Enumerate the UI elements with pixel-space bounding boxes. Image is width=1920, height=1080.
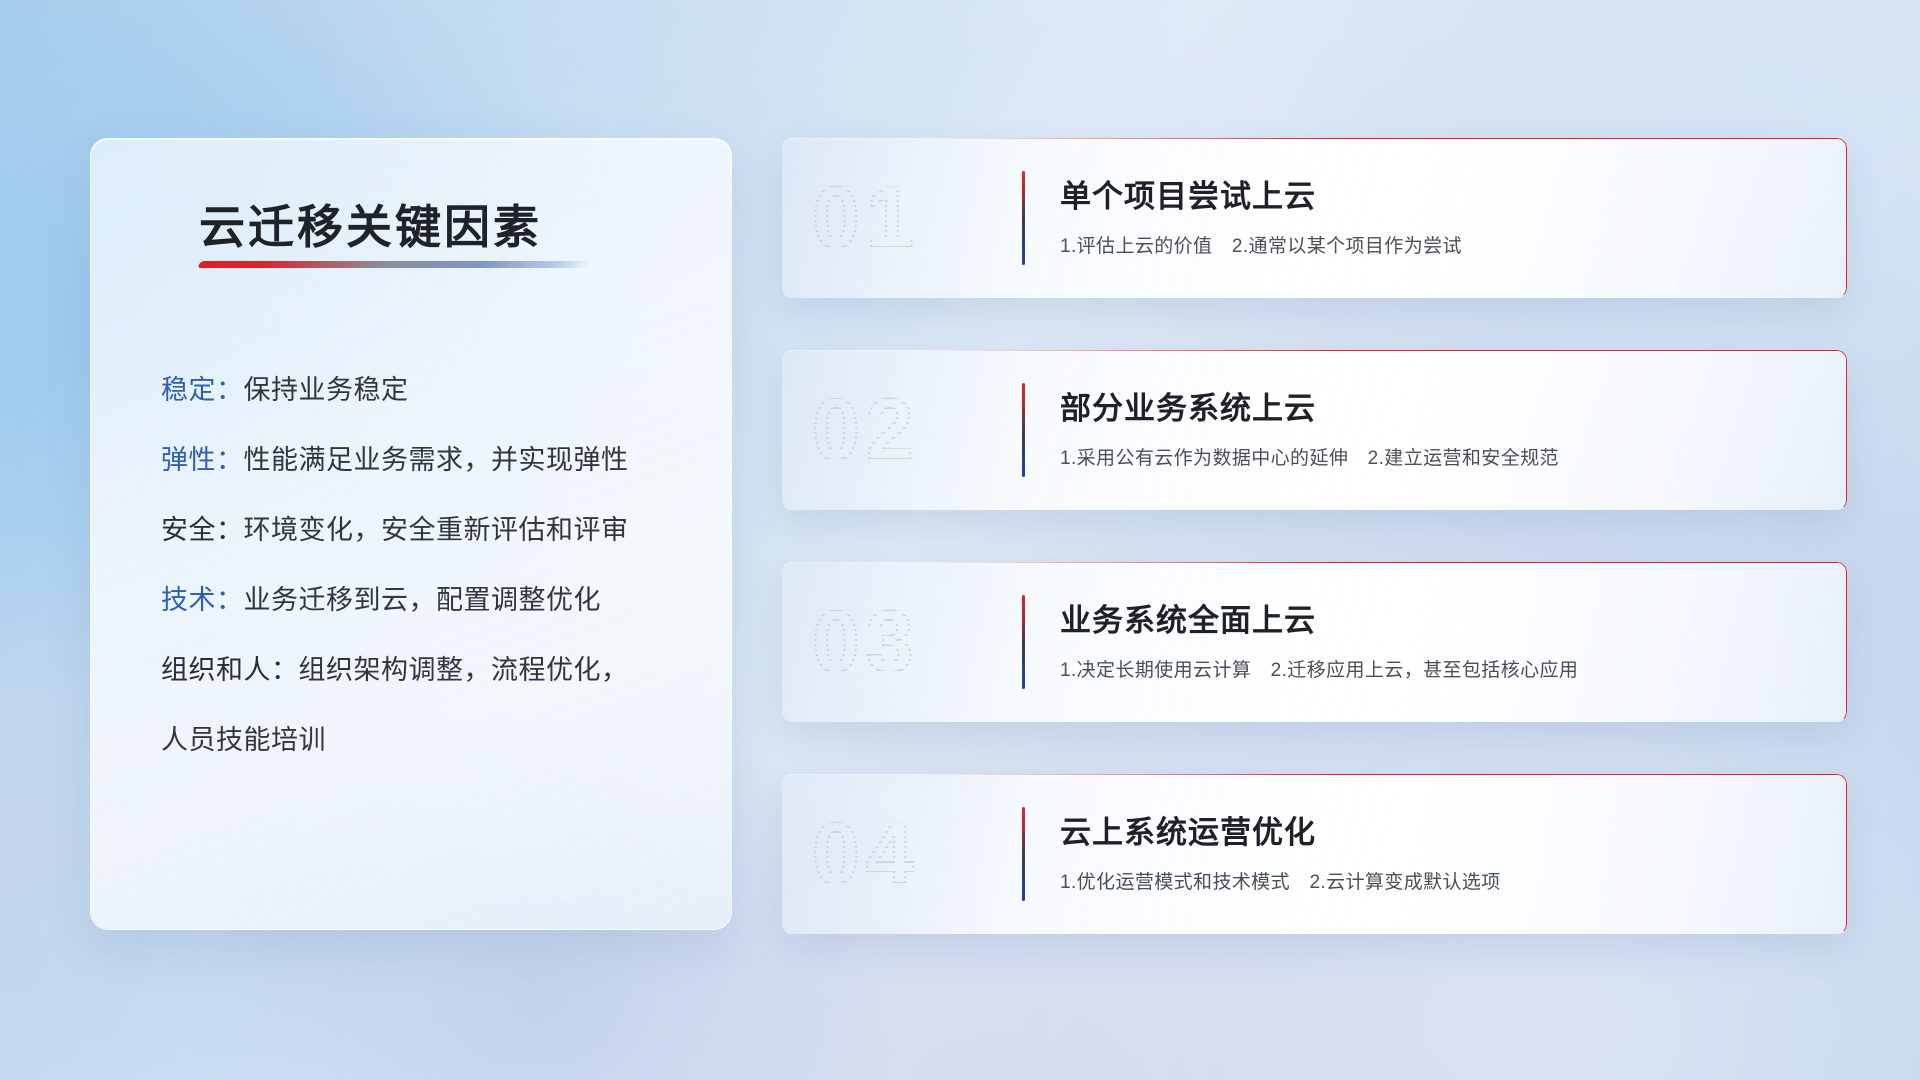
step-title: 单个项目尝试上云 [1060,178,1807,217]
step-divider-bar [1022,807,1025,901]
list-item: 组织和人：组织架构调整，流程优化， [161,657,691,684]
step-body: 云上系统运营优化 1.优化运营模式和技术模式 2.云计算变成默认选项 [1060,814,1807,894]
title-underline-accent [197,261,591,268]
step-number: 01 [812,175,920,261]
step-description: 1.采用公有云作为数据中心的延伸 2.建立运营和安全规范 [1060,443,1807,470]
key-factors-panel: 云迁移关键因素 稳定：保持业务稳定 弹性：性能满足业务需求，并实现弹性 安全：环… [90,138,732,930]
list-item: 人员技能培训 [161,727,691,754]
factor-text: 保持业务稳定 [244,375,409,405]
step-divider-bar [1022,171,1025,265]
step-description: 1.决定长期使用云计算 2.迁移应用上云，甚至包括核心应用 [1060,655,1807,682]
factor-list: 稳定：保持业务稳定 弹性：性能满足业务需求，并实现弹性 安全：环境变化，安全重新… [161,377,691,754]
list-item: 弹性：性能满足业务需求，并实现弹性 [161,447,691,474]
step-title: 部分业务系统上云 [1060,390,1807,429]
step-title: 云上系统运营优化 [1060,814,1807,853]
step-number: 04 [812,811,920,897]
list-item: 安全：环境变化，安全重新评估和评审 [161,517,691,544]
factor-text: 环境变化，安全重新评估和评审 [244,515,629,545]
page-title: 云迁移关键因素 [199,191,542,257]
factor-text: 人员技能培训 [161,725,326,755]
step-divider-bar [1022,595,1025,689]
factor-text: 业务迁移到云，配置调整优化 [244,585,602,615]
step-body: 业务系统全面上云 1.决定长期使用云计算 2.迁移应用上云，甚至包括核心应用 [1060,602,1807,682]
factor-text: 性能满足业务需求，并实现弹性 [244,445,629,475]
step-card[interactable]: 04 云上系统运营优化 1.优化运营模式和技术模式 2.云计算变成默认选项 [782,774,1847,934]
factor-label: 组织和人： [161,655,299,685]
step-body: 单个项目尝试上云 1.评估上云的价值 2.通常以某个项目作为尝试 [1060,178,1807,258]
step-number: 02 [812,387,920,473]
step-title: 业务系统全面上云 [1060,602,1807,641]
step-description: 1.评估上云的价值 2.通常以某个项目作为尝试 [1060,231,1807,258]
step-divider-bar [1022,383,1025,477]
factor-label: 弹性： [161,445,244,475]
step-body: 部分业务系统上云 1.采用公有云作为数据中心的延伸 2.建立运营和安全规范 [1060,390,1807,470]
list-item: 技术：业务迁移到云，配置调整优化 [161,587,691,614]
step-card[interactable]: 01 单个项目尝试上云 1.评估上云的价值 2.通常以某个项目作为尝试 [782,138,1847,298]
factor-label: 稳定： [161,375,244,405]
factor-label: 安全： [161,515,244,545]
list-item: 稳定：保持业务稳定 [161,377,691,404]
factor-label: 技术： [161,585,244,615]
step-description: 1.优化运营模式和技术模式 2.云计算变成默认选项 [1060,867,1807,894]
step-number: 03 [812,599,920,685]
step-card[interactable]: 03 业务系统全面上云 1.决定长期使用云计算 2.迁移应用上云，甚至包括核心应… [782,562,1847,722]
step-card-list: 01 单个项目尝试上云 1.评估上云的价值 2.通常以某个项目作为尝试 02 部… [782,138,1847,934]
factor-text: 组织架构调整，流程优化， [299,655,629,685]
step-card[interactable]: 02 部分业务系统上云 1.采用公有云作为数据中心的延伸 2.建立运营和安全规范 [782,350,1847,510]
